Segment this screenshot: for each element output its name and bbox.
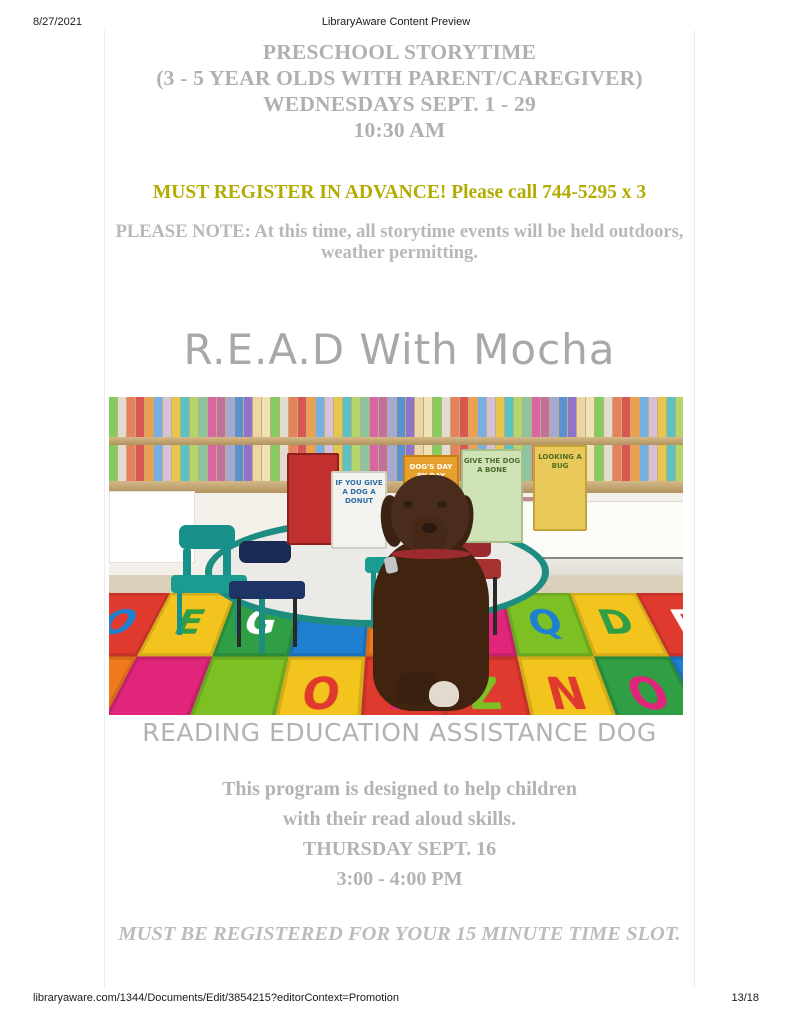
photo-shelf-board-top: [109, 437, 683, 445]
photo-book-spine: [217, 445, 225, 481]
photo-book-spine: [595, 397, 603, 437]
photo-book-spine: [235, 397, 243, 437]
program-details-line-4: 3:00 - 4:00 PM: [105, 864, 694, 894]
photo-book-spine: [181, 445, 189, 481]
read-program-title: R.E.A.D With Mocha: [105, 326, 694, 374]
photo-book-spine: [325, 397, 333, 437]
storytime-heading-line-3: WEDNESDAYS SEPT. 1 - 29: [105, 91, 694, 117]
photo-book-spines-top: [109, 397, 683, 437]
print-footer-url: libraryaware.com/1344/Documents/Edit/385…: [33, 992, 399, 1004]
photo-book-spine: [496, 397, 504, 437]
photo-book-spine: [271, 397, 279, 437]
photo-book-spine: [622, 445, 630, 481]
photo-book-spine: [244, 445, 252, 481]
photo-book-spine: [406, 397, 414, 437]
photo-book-spine: [640, 445, 648, 481]
photo-book-spine: [199, 397, 207, 437]
photo-book-spine: [568, 397, 576, 437]
photo-book-spine: [613, 445, 621, 481]
photo-book-spine: [280, 397, 288, 437]
print-footer-page: 13/18: [731, 992, 759, 1004]
photo-book-spine: [352, 397, 360, 437]
photo-book-spine: [604, 445, 612, 481]
program-details-line-3: THURSDAY SEPT. 16: [105, 834, 694, 864]
photo-book-spine: [253, 397, 261, 437]
photo-book-spine: [136, 445, 144, 481]
photo-book-spine: [595, 445, 603, 481]
photo-book-spine: [631, 397, 639, 437]
please-note-text: PLEASE NOTE: At this time, all storytime…: [105, 222, 694, 264]
photo-book-spine: [127, 397, 135, 437]
photo-book-spine: [613, 397, 621, 437]
photo-book-spine: [208, 397, 216, 437]
photo-book-spine: [667, 445, 675, 481]
photo-book-spine: [397, 397, 405, 437]
photo-dog-eye-right: [437, 501, 447, 508]
photo-book-spine: [262, 445, 270, 481]
photo-book-spine: [199, 445, 207, 481]
photo-book-spine: [631, 445, 639, 481]
photo-display-book-looking-a-bug: LOOKING A BUG: [533, 445, 587, 531]
photo-book-spine: [586, 445, 594, 481]
photo-book-spine: [586, 397, 594, 437]
photo-caption: READING EDUCATION ASSISTANCE DOG: [105, 718, 694, 748]
photo-book-spine: [217, 397, 225, 437]
photo-book-spine: [244, 397, 252, 437]
photo-book-spine: [577, 397, 585, 437]
photo-book-spine: [532, 397, 540, 437]
photo-book-spine: [523, 445, 531, 481]
register-notice: MUST REGISTER IN ADVANCE! Please call 74…: [105, 181, 694, 205]
photo-book-spine: [145, 397, 153, 437]
photo-book-spine: [469, 397, 477, 437]
photo-book-spine: [127, 445, 135, 481]
photo-book-spine: [487, 397, 495, 437]
photo-book-spine: [181, 397, 189, 437]
storytime-heading-line-4: 10:30 AM: [105, 117, 694, 143]
storytime-heading: PRESCHOOL STORYTIME (3 - 5 YEAR OLDS WIT…: [105, 39, 694, 143]
photo-book-spine: [658, 397, 666, 437]
read-program-photo: OEGRACQDFPLCOPZNOJKE2BWNUST: [109, 397, 683, 715]
photo-book-spine: [109, 397, 117, 437]
photo-book-spine: [559, 397, 567, 437]
photo-book-spine: [514, 397, 522, 437]
photo-book-spine: [640, 397, 648, 437]
photo-book-spine: [388, 397, 396, 437]
photo-book-spine: [271, 445, 279, 481]
photo-book-spine: [478, 397, 486, 437]
time-slot-notice: MUST BE REGISTERED FOR YOUR 15 MINUTE TI…: [105, 918, 694, 950]
photo-book-spine: [505, 397, 513, 437]
photo-book-spine: [118, 445, 126, 481]
library-room-photo: OEGRACQDFPLCOPZNOJKE2BWNUST: [109, 397, 683, 715]
photo-book-spine: [136, 397, 144, 437]
storytime-heading-line-2: (3 - 5 YEAR OLDS WITH PARENT/CAREGIVER): [105, 65, 694, 91]
photo-dog-collar: [391, 549, 471, 559]
photo-book-spine: [424, 397, 432, 437]
photo-book-spine: [604, 397, 612, 437]
photo-book-spine: [649, 397, 657, 437]
photo-dog-nose: [422, 523, 437, 533]
print-footer: libraryaware.com/1344/Documents/Edit/385…: [0, 992, 792, 1012]
photo-book-spine: [190, 445, 198, 481]
photo-book-spine: [235, 445, 243, 481]
photo-book-spine: [676, 397, 683, 437]
program-details: This program is designed to help childre…: [105, 774, 694, 894]
photo-book-spine: [154, 445, 162, 481]
photo-book-spine: [415, 397, 423, 437]
photo-book-spine: [451, 397, 459, 437]
photo-book-spine: [523, 397, 531, 437]
photo-book-spine: [253, 445, 261, 481]
photo-book-spine: [433, 397, 441, 437]
photo-book-spine: [442, 397, 450, 437]
flyer-content: PRESCHOOL STORYTIME (3 - 5 YEAR OLDS WIT…: [105, 30, 694, 950]
photo-book-spine: [109, 445, 117, 481]
photo-book-spine: [118, 397, 126, 437]
photo-book-spine: [226, 397, 234, 437]
photo-book-spine: [334, 397, 342, 437]
photo-book-spine: [622, 397, 630, 437]
photo-book-spine: [316, 397, 324, 437]
photo-book-spine: [361, 397, 369, 437]
photo-book-spine: [298, 397, 306, 437]
photo-book-spine: [667, 397, 675, 437]
flyer-page: PRESCHOOL STORYTIME (3 - 5 YEAR OLDS WIT…: [104, 30, 695, 988]
photo-shelf-row-top: [109, 397, 683, 437]
program-details-line-2: with their read aloud skills.: [105, 804, 694, 834]
photo-book-spine: [163, 445, 171, 481]
photo-dog-paw-right: [429, 681, 459, 707]
photo-therapy-dog-mocha: [367, 475, 497, 715]
photo-book-spine: [145, 445, 153, 481]
photo-book-spine: [676, 445, 683, 481]
photo-book-spine: [307, 397, 315, 437]
photo-book-spine: [289, 397, 297, 437]
photo-book-spine: [262, 397, 270, 437]
photo-book-spine: [658, 445, 666, 481]
photo-dog-eye-left: [403, 501, 413, 508]
photo-book-spine: [379, 397, 387, 437]
photo-book-spine: [163, 397, 171, 437]
photo-book-spine: [226, 445, 234, 481]
print-header-title: LibraryAware Content Preview: [0, 16, 792, 28]
photo-book-spine: [541, 397, 549, 437]
storytime-heading-line-1: PRESCHOOL STORYTIME: [105, 39, 694, 65]
photo-book-spine: [649, 445, 657, 481]
program-details-line-1: This program is designed to help childre…: [105, 774, 694, 804]
photo-book-spine: [190, 397, 198, 437]
photo-book-spine: [208, 445, 216, 481]
photo-book-spine: [370, 397, 378, 437]
photo-chair-navy: [229, 541, 301, 649]
photo-book-spine: [172, 397, 180, 437]
photo-book-spine: [154, 397, 162, 437]
photo-book-spine: [550, 397, 558, 437]
photo-book-spine: [460, 397, 468, 437]
photo-book-spine: [343, 397, 351, 437]
photo-book-spine: [172, 445, 180, 481]
